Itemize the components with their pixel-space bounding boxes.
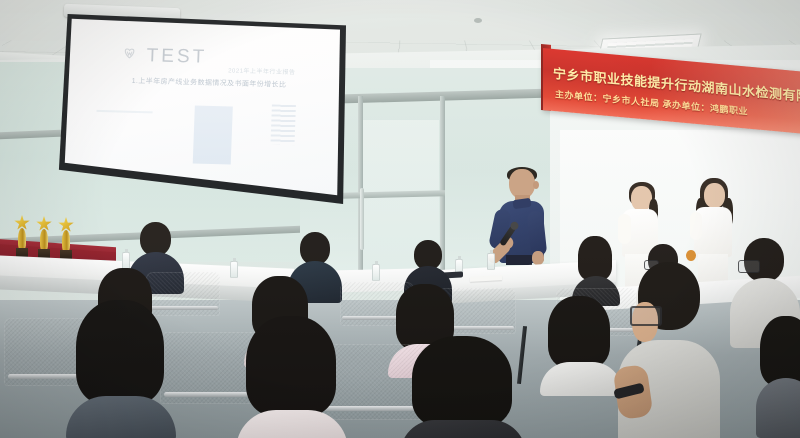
water-bottle (372, 264, 380, 281)
audience-person-foreground (400, 336, 526, 438)
audience-person (756, 316, 800, 438)
star-trophy (14, 215, 30, 257)
slide-corner-text: 2021年上半年行业报告 (228, 65, 296, 76)
audience-person-foreground (66, 300, 176, 438)
person-shoulders (66, 396, 176, 438)
person-head (140, 222, 171, 256)
smoke-detector-icon (474, 18, 482, 23)
person-hair (246, 316, 336, 416)
person-shoulders (236, 410, 348, 438)
door-handle-icon[interactable] (360, 188, 364, 250)
water-bottle (487, 253, 495, 270)
slide-title: 1.上半年房产线业务数据情况及书面年份增长比 (132, 76, 287, 90)
person-hair (76, 300, 164, 404)
glasses-icon (630, 306, 662, 326)
staff-sleeve (690, 212, 702, 240)
presenter-belt (506, 255, 532, 265)
presenter-right-arm (527, 210, 548, 256)
person-hair (412, 336, 512, 428)
presenter-ear (533, 181, 539, 189)
trophy-stem (62, 230, 70, 252)
audience-person-foreground (236, 316, 348, 438)
person-hair (760, 316, 800, 386)
staff-head (704, 183, 725, 208)
person-shoulders (540, 362, 622, 396)
slide-divider (97, 110, 153, 113)
star-trophy (58, 217, 74, 259)
person-hair (548, 296, 610, 368)
w-heart-logo-icon (122, 47, 142, 64)
person-hair (578, 236, 612, 280)
slide-logo-text: TEST (146, 45, 207, 69)
slide-text-block (270, 105, 295, 146)
person-shoulders (756, 378, 800, 438)
trophy-stem (18, 228, 26, 250)
star-trophy (36, 216, 52, 258)
slide-chart-image (193, 106, 233, 165)
slide-logo: TEST (122, 45, 207, 69)
person-shoulders (400, 420, 526, 438)
audience-person (540, 296, 622, 392)
presenter-left-arm (488, 208, 512, 250)
meeting-room-photo: TEST 2021年上半年行业报告 1.上半年房产线业务数据情况及书面年份增长比… (0, 0, 800, 438)
presenter-right-hand (532, 251, 544, 265)
water-bottle (230, 261, 238, 278)
audience-person-foreground (618, 262, 720, 438)
trophy-stem (40, 229, 48, 251)
glasses-icon (738, 260, 760, 273)
